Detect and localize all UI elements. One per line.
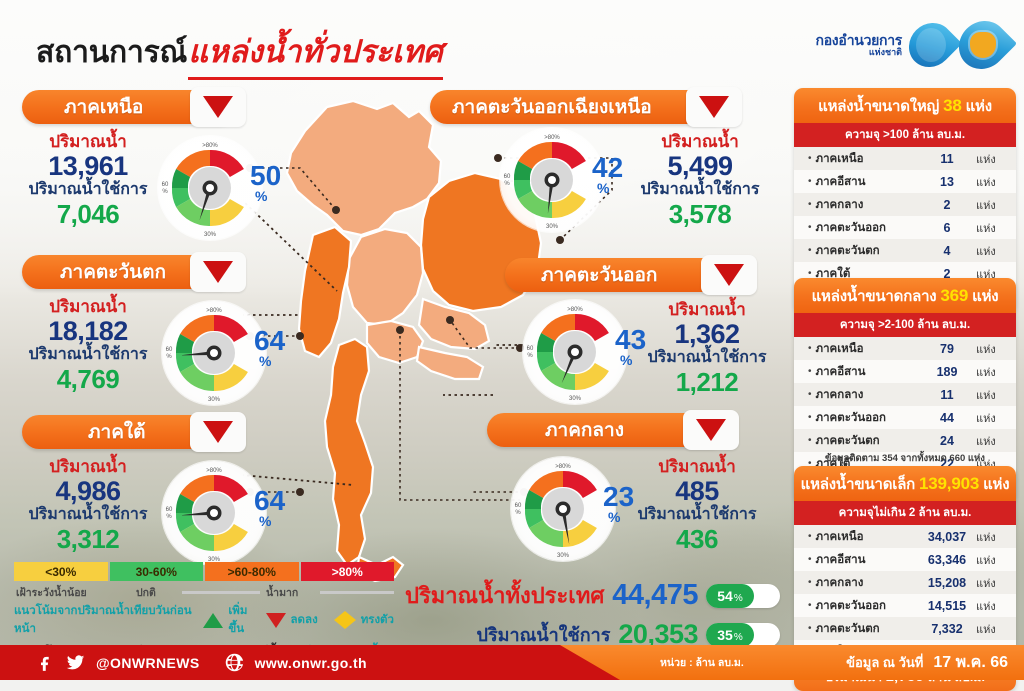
region-panel-north[interactable]: ภาคเหนือ ปริมาณน้ำ 13,961 ปริมาณน้ำใช้กา… (22, 90, 258, 124)
table-row: •ภาคเหนือ11แห่ง (794, 147, 1016, 170)
trend-down-icon (699, 96, 729, 118)
row-unit: แห่ง (976, 340, 1010, 358)
map-region-south (325, 339, 373, 565)
row-value: 14,515 (918, 599, 976, 613)
region-stats-central: ปริมาณน้ำ 485 ปริมาณน้ำใช้การ 436 (635, 457, 759, 554)
row-value: 7,332 (918, 622, 976, 636)
svg-text:>80%: >80% (206, 308, 222, 314)
footer-unit-note: หน่วย : ล้าน ลบ.ม. (660, 645, 744, 680)
region-title-east: ภาคตะวันออก (505, 258, 747, 292)
trend-down-icon (203, 96, 233, 118)
social-handle: @ONWRNEWS (96, 655, 200, 671)
card-small-title-text: แหล่งน้ำขนาดเล็ก (801, 476, 915, 493)
row-value: 189 (918, 365, 976, 379)
legend-band-low: <30% (14, 562, 108, 581)
gauge-percent-symbol-northeast: % (597, 180, 609, 196)
svg-text:30%: 30% (557, 553, 570, 559)
svg-text:60: 60 (515, 503, 522, 509)
title-emphasis: แหล่งน้ำทั่วประเทศ (188, 26, 443, 80)
map-region-central-lower (367, 321, 423, 363)
svg-text:>80%: >80% (206, 468, 222, 474)
usable-label-northeast: ปริมาณน้ำใช้การ (638, 181, 762, 199)
region-name-northeast: ภาคตะวันออกเฉียงเหนือ (452, 92, 652, 122)
svg-text:>80%: >80% (567, 307, 583, 313)
row-name: ภาคอีสาน (816, 551, 918, 569)
svg-text:>80%: >80% (555, 464, 571, 470)
row-name: ภาคตะวันออก (816, 409, 918, 427)
usable-value-east: 1,212 (645, 368, 769, 397)
svg-text:60: 60 (166, 507, 173, 513)
gauge-east: >80% 60 % 30% 43 % (523, 300, 627, 404)
gauge-north: >80% 60 % 30% 50 % (158, 136, 262, 240)
region-panel-east[interactable]: ภาคตะวันออก >80% 60 % 30% 4 (505, 258, 765, 292)
card-small-unit: แห่ง (983, 476, 1009, 493)
region-panel-west[interactable]: ภาคตะวันตก ปริมาณน้ำ 18,182 ปริมาณน้ำใช้… (22, 255, 262, 289)
gauge-percent-symbol-east: % (620, 352, 632, 368)
region-name-south: ภาคใต้ (88, 417, 146, 447)
total-country-line: ปริมาณน้ำทั้งประเทศ 44,475 54 % (390, 578, 780, 613)
org-line-2: แห่งชาติ (816, 48, 902, 57)
region-trend-east (701, 255, 757, 295)
card-medium-title-text: แหล่งน้ำขนาดกลาง (812, 288, 937, 305)
svg-text:%: % (166, 514, 172, 520)
gauge-value-northeast: 42 (592, 154, 623, 182)
volume-value-east: 1,362 (645, 319, 769, 349)
legend-sublabels: เฝ้าระวังน้ำน้อย ปกติ น้ำมาก (14, 583, 394, 599)
card-large-count: 38 (943, 96, 962, 115)
infographic-root: สถานการณ์ แหล่งน้ำทั่วประเทศ กองอำนวยการ… (0, 0, 1024, 680)
svg-text:%: % (515, 510, 521, 516)
region-name-west: ภาคตะวันตก (60, 257, 166, 287)
globe-icon[interactable] (224, 652, 245, 673)
legend-color-bands: <30% 30-60% >60-80% >80% (14, 562, 394, 581)
svg-text:60: 60 (162, 182, 169, 188)
volume-value-north: 13,961 (26, 151, 150, 181)
gauge-value-central: 23 (603, 483, 634, 511)
volume-value-northeast: 5,499 (638, 151, 762, 181)
card-medium-title: แหล่งน้ำขนาดกลาง 369 แห่ง (794, 278, 1016, 313)
region-name-east: ภาคตะวันออก (541, 260, 657, 290)
card-large-title: แหล่งน้ำขนาดใหญ่ 38 แห่ง (794, 88, 1016, 123)
region-trend-north (190, 87, 246, 127)
card-medium-capacity: ความจุ >2-100 ล้าน ลบ.ม. (794, 313, 1016, 337)
water-drop-logo-icon (900, 14, 962, 76)
region-name-north: ภาคเหนือ (64, 92, 143, 122)
region-title-north: ภาคเหนือ (22, 90, 236, 124)
usable-label-east: ปริมาณน้ำใช้การ (645, 349, 769, 367)
usable-value-south: 3,312 (26, 525, 150, 554)
legend-trend-title: แนวโน้มจากปริมาณน้ำเทียบวันก่อนหน้า (14, 602, 198, 638)
table-row: •ภาคกลาง11แห่ง (794, 383, 1016, 406)
national-totals: ปริมาณน้ำทั้งประเทศ 44,475 54 % ปริมาณน้… (390, 578, 780, 650)
row-value: 34,037 (918, 530, 976, 544)
legend-band-high: >60-80% (205, 562, 299, 581)
row-unit: แห่ง (976, 574, 1010, 592)
row-value: 11 (918, 152, 976, 166)
gauge-northeast: >80% 60 % 30% 42 % (500, 128, 604, 232)
row-value: 11 (918, 388, 976, 402)
row-unit: แห่ง (976, 363, 1010, 381)
trend-down-icon (203, 421, 233, 443)
map-region-east-coast (417, 347, 483, 379)
gauge-value-south: 64 (254, 487, 285, 515)
gauge-central: >80% 60 % 30% 23 % (511, 457, 615, 561)
region-trend-west (190, 252, 246, 292)
usable-value-northeast: 3,578 (638, 200, 762, 229)
org-line-1: กองอำนวยการ (816, 33, 902, 48)
card-small-capacity: ความจุไม่เกิน 2 ล้าน ลบ.ม. (794, 501, 1016, 525)
row-value: 24 (918, 434, 976, 448)
row-value: 4 (918, 244, 976, 258)
region-stats-west: ปริมาณน้ำ 18,182 ปริมาณน้ำใช้การ 4,769 (26, 297, 150, 394)
gauge-percent-symbol-central: % (608, 509, 620, 525)
legend-trend-down-label: ลดลง (291, 611, 318, 629)
row-unit: แห่ง (976, 597, 1010, 615)
gauge-value-north: 50 (250, 162, 281, 190)
row-name: ภาคกลาง (816, 196, 918, 214)
row-name: ภาคเหนือ (816, 528, 918, 546)
org-name: กองอำนวยการ แห่งชาติ (816, 33, 902, 57)
row-name: ภาคตะวันออก (816, 597, 918, 615)
footer-social: @ONWRNEWS www.onwr.go.th (34, 645, 367, 680)
volume-label-west: ปริมาณน้ำ (26, 297, 150, 316)
trend-down-icon (696, 419, 726, 441)
facebook-icon[interactable] (34, 652, 55, 673)
gauge-percent-symbol-west: % (259, 353, 271, 369)
row-value: 63,346 (918, 553, 976, 567)
region-panel-northeast[interactable]: ภาคตะวันออกเฉียงเหนือ >80% 60 % 30% (430, 90, 760, 124)
card-medium-note: ข้อมูลติดตาม 354 จากทั้งหมด 660 แห่ง (794, 451, 1016, 466)
date-value: 17 พ.ค. 66 (933, 650, 1008, 675)
row-name: ภาคอีสาน (816, 363, 918, 381)
region-trend-south (190, 412, 246, 452)
map-region-central (347, 229, 423, 325)
row-name: ภาคตะวันตก (816, 432, 918, 450)
card-large-unit: แห่ง (966, 98, 992, 115)
row-name: ภาคกลาง (816, 574, 918, 592)
row-name: ภาคเหนือ (816, 340, 918, 358)
row-name: ภาคตะวันออก (816, 219, 918, 237)
legend-trend-row: แนวโน้มจากปริมาณน้ำเทียบวันก่อนหน้า เพิ่… (14, 602, 394, 638)
legend-trend-flat-label: ทรงตัว (361, 611, 394, 629)
card-medium-count: 369 (940, 286, 968, 305)
row-unit: แห่ง (976, 551, 1010, 569)
volume-value-central: 485 (635, 476, 759, 506)
card-small-count: 139,903 (919, 474, 979, 493)
date-label: ข้อมูล ณ วันที่ (846, 652, 923, 673)
table-row: •ภาคอีสาน13แห่ง (794, 170, 1016, 193)
total-country-label: ปริมาณน้ำทั้งประเทศ (405, 578, 604, 613)
row-value: 44 (918, 411, 976, 425)
table-row: •ภาคตะวันตก4แห่ง (794, 239, 1016, 262)
svg-text:%: % (504, 181, 510, 187)
table-row: •ภาคตะวันตก24แห่ง (794, 429, 1016, 452)
row-unit: แห่ง (976, 432, 1010, 450)
gauge-west: >80% 60 % 30% 64 % (162, 301, 266, 405)
table-row: •ภาคกลาง15,208แห่ง (794, 571, 1016, 594)
volume-value-west: 18,182 (26, 316, 150, 346)
table-row: •ภาคอีสาน189แห่ง (794, 360, 1016, 383)
trend-down-icon (203, 261, 233, 283)
row-value: 13 (918, 175, 976, 189)
region-title-central: ภาคกลาง (487, 413, 727, 447)
footer-date: ข้อมูล ณ วันที่ 17 พ.ค. 66 (846, 645, 1008, 680)
svg-text:%: % (527, 353, 533, 359)
trend-down-icon (714, 264, 744, 286)
svg-text:60: 60 (166, 347, 173, 353)
region-title-south: ภาคใต้ (22, 415, 236, 449)
svg-text:60: 60 (504, 174, 511, 180)
volume-label-northeast: ปริมาณน้ำ (638, 132, 762, 151)
card-large-capacity: ความจุ >100 ล้าน ลบ.ม. (794, 123, 1016, 147)
region-stats-northeast: ปริมาณน้ำ 5,499 ปริมาณน้ำใช้การ 3,578 (638, 132, 762, 229)
row-unit: แห่ง (976, 620, 1010, 638)
region-panel-central[interactable]: ภาคกลาง >80% 60 % 30% 23 (487, 413, 767, 447)
organization-logos: กองอำนวยการ แห่งชาติ (816, 20, 1006, 70)
card-large-title-text: แหล่งน้ำขนาดใหญ่ (818, 98, 939, 115)
twitter-icon[interactable] (65, 652, 86, 673)
row-unit: แห่ง (976, 242, 1010, 260)
svg-text:%: % (166, 354, 172, 360)
region-title-northeast: ภาคตะวันออกเฉียงเหนือ (430, 90, 730, 124)
region-trend-central (683, 410, 739, 450)
trend-flat-icon (345, 611, 356, 629)
usable-value-west: 4,769 (26, 365, 150, 394)
legend-band-very-high: >80% (301, 562, 395, 581)
legend-sub-low: เฝ้าระวังน้ำน้อย (16, 584, 87, 601)
row-name: ภาคตะวันตก (816, 620, 918, 638)
table-row: •ภาคตะวันออก6แห่ง (794, 216, 1016, 239)
svg-text:30%: 30% (208, 397, 221, 403)
trend-up-icon (203, 613, 223, 628)
table-row: •ภาคเหนือ34,037แห่ง (794, 525, 1016, 548)
total-usable-percent: 35 (717, 623, 733, 647)
row-name: ภาคตะวันตก (816, 242, 918, 260)
total-country-percent-chip: 54 % (706, 584, 780, 608)
table-row: •ภาคตะวันออก14,515แห่ง (794, 594, 1016, 617)
gauge-south: >80% 60 % 30% 64 % (162, 461, 266, 565)
title-plain: สถานการณ์ (36, 29, 187, 76)
map-region-north (287, 101, 441, 235)
svg-text:30%: 30% (569, 396, 582, 402)
row-value: 2 (918, 198, 976, 212)
volume-label-north: ปริมาณน้ำ (26, 132, 150, 151)
row-unit: แห่ง (976, 173, 1010, 191)
gauge-value-east: 43 (615, 326, 646, 354)
row-unit: แห่ง (976, 219, 1010, 237)
volume-label-south: ปริมาณน้ำ (26, 457, 150, 476)
usable-label-west: ปริมาณน้ำใช้การ (26, 346, 150, 364)
row-unit: แห่ง (976, 409, 1010, 427)
page-title: สถานการณ์ แหล่งน้ำทั่วประเทศ (36, 26, 443, 80)
usable-label-north: ปริมาณน้ำใช้การ (26, 181, 150, 199)
total-country-percent: 54 (717, 584, 733, 608)
row-value: 79 (918, 342, 976, 356)
legend-trend-up-label: เพิ่มขึ้น (228, 602, 260, 638)
legend-sub-normal: ปกติ (136, 584, 156, 601)
table-row: •ภาคตะวันออก44แห่ง (794, 406, 1016, 429)
row-name: ภาคอีสาน (816, 173, 918, 191)
svg-text:30%: 30% (204, 232, 217, 238)
row-name: ภาคเหนือ (816, 150, 918, 168)
total-usable-percent-chip: 35 % (706, 623, 780, 647)
row-unit: แห่ง (976, 196, 1010, 214)
usable-value-north: 7,046 (26, 200, 150, 229)
total-country-value: 44,475 (612, 579, 698, 612)
row-unit: แห่ง (976, 386, 1010, 404)
gauge-percent-symbol-south: % (259, 513, 271, 529)
table-row: •ภาคเหนือ79แห่ง (794, 337, 1016, 360)
row-unit: แห่ง (976, 528, 1010, 546)
volume-label-east: ปริมาณน้ำ (645, 300, 769, 319)
legend-band-normal: 30-60% (110, 562, 204, 581)
trend-down-icon (266, 613, 286, 628)
svg-text:60: 60 (527, 346, 534, 352)
region-trend-northeast (686, 87, 742, 127)
volume-label-central: ปริมาณน้ำ (635, 457, 759, 476)
svg-text:>80%: >80% (544, 135, 560, 141)
row-name: ภาคกลาง (816, 386, 918, 404)
svg-text:30%: 30% (546, 224, 559, 230)
percent-symbol: % (734, 587, 743, 611)
svg-text:>80%: >80% (202, 143, 218, 149)
region-name-central: ภาคกลาง (545, 415, 624, 445)
volume-value-south: 4,986 (26, 476, 150, 506)
card-medium-unit: แห่ง (972, 288, 998, 305)
table-row: •ภาคอีสาน63,346แห่ง (794, 548, 1016, 571)
row-unit: แห่ง (976, 150, 1010, 168)
region-panel-south[interactable]: ภาคใต้ ปริมาณน้ำ 4,986 ปริมาณน้ำใช้การ 3… (22, 415, 262, 449)
region-stats-east: ปริมาณน้ำ 1,362 ปริมาณน้ำใช้การ 1,212 (645, 300, 769, 397)
website-url[interactable]: www.onwr.go.th (255, 655, 367, 671)
usable-label-south: ปริมาณน้ำใช้การ (26, 506, 150, 524)
legend-sub-high: น้ำมาก (266, 584, 298, 601)
usable-value-central: 436 (635, 525, 759, 554)
region-title-west: ภาคตะวันตก (22, 255, 236, 289)
table-row: •ภาคตะวันตก7,332แห่ง (794, 617, 1016, 640)
gauge-value-west: 64 (254, 327, 285, 355)
row-value: 6 (918, 221, 976, 235)
region-stats-south: ปริมาณน้ำ 4,986 ปริมาณน้ำใช้การ 3,312 (26, 457, 150, 554)
usable-label-central: ปริมาณน้ำใช้การ (635, 506, 759, 524)
table-row: •ภาคกลาง2แห่ง (794, 193, 1016, 216)
card-small-title: แหล่งน้ำขนาดเล็ก 139,903 แห่ง (794, 466, 1016, 501)
map-region-west (299, 227, 351, 357)
svg-text:%: % (162, 189, 168, 195)
region-stats-north: ปริมาณน้ำ 13,961 ปริมาณน้ำใช้การ 7,046 (26, 132, 150, 229)
row-value: 15,208 (918, 576, 976, 590)
gauge-percent-symbol-north: % (255, 188, 267, 204)
